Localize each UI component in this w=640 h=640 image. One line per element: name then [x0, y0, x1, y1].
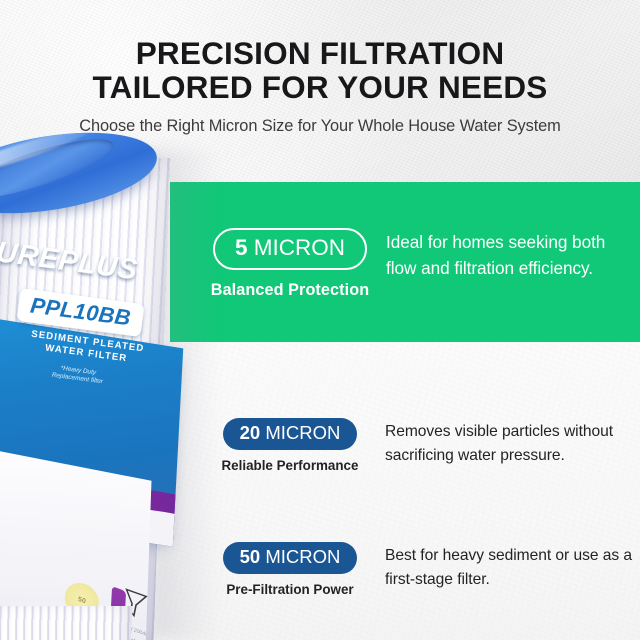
filter-lower-pleats — [0, 606, 133, 640]
micron-badge-5-number: 5 — [235, 235, 248, 260]
product-image-water-filter: PUREPLUS PPL10BB SEDIMENT PLEATED WATER … — [0, 136, 190, 640]
micron-badge-50-number: 50 — [240, 546, 261, 567]
micron-row-5-left: 5 MICRON Balanced Protection — [192, 228, 388, 300]
micron-row-20-left: 20 MICRON Reliable Performance — [192, 418, 388, 473]
micron-badge-20: 20 MICRON — [223, 418, 358, 450]
micron-badge-5: 5 MICRON — [213, 228, 367, 270]
micron-badge-20-number: 20 — [240, 422, 261, 443]
headline-line-2: TAILORED FOR YOUR NEEDS — [0, 70, 640, 104]
micron-row-5-description: Ideal for homes seeking both flow and fi… — [386, 229, 622, 281]
headline-line-1: PRECISION FILTRATION — [136, 35, 505, 71]
page-subtitle: Choose the Right Micron Size for Your Wh… — [0, 117, 640, 136]
micron-row-50-left: 50 MICRON Pre-Filtration Power — [192, 542, 388, 597]
infographic-canvas: PRECISION FILTRATION TAILORED FOR YOUR N… — [0, 0, 640, 640]
micron-row-5: 5 MICRON Balanced Protection Ideal for h… — [170, 182, 640, 342]
micron-badge-20-unit: MICRON — [260, 422, 340, 443]
micron-row-50-description: Best for heavy sediment or use as a firs… — [385, 544, 633, 592]
micron-row-20-description: Removes visible particles without sacrif… — [385, 420, 633, 468]
micron-row-20-subtitle: Reliable Performance — [192, 458, 388, 473]
micron-badge-50-unit: MICRON — [260, 546, 340, 567]
page-title: PRECISION FILTRATION TAILORED FOR YOUR N… — [0, 36, 640, 104]
micron-badge-50: 50 MICRON — [223, 542, 358, 574]
micron-row-50-subtitle: Pre-Filtration Power — [192, 582, 388, 597]
micron-row-5-subtitle: Balanced Protection — [192, 281, 388, 300]
micron-badge-5-unit: MICRON — [248, 235, 346, 260]
